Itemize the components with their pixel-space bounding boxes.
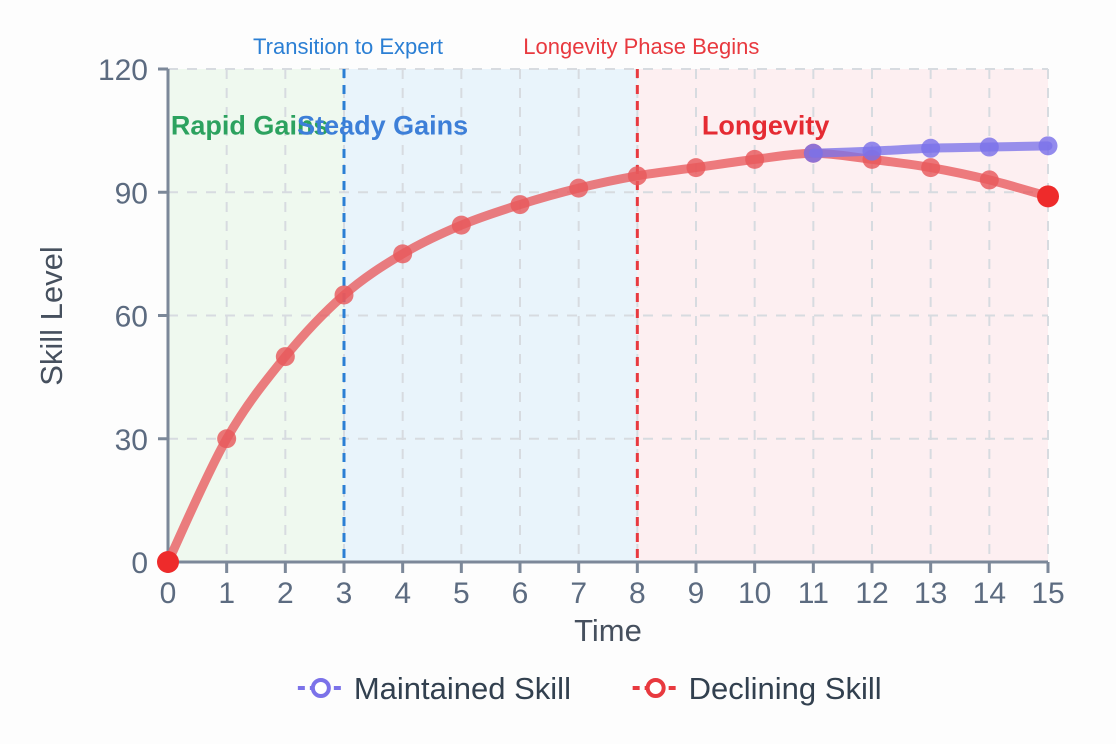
data-point-marker	[980, 170, 999, 189]
legend-marker-icon	[648, 680, 664, 696]
data-point-marker	[687, 158, 706, 177]
x-tick-label: 12	[855, 577, 888, 610]
x-tick-label: 3	[336, 577, 353, 610]
data-point-marker	[921, 139, 940, 158]
phase-divider-label: Transition to Expert	[253, 34, 443, 59]
x-tick-label: 8	[629, 577, 646, 610]
x-tick-label: 14	[973, 577, 1006, 610]
x-tick-label: 10	[738, 577, 771, 610]
divider-labels: Transition to ExpertLongevity Phase Begi…	[253, 34, 759, 59]
chart-legend[interactable]: Maintained SkillDeclining Skill	[298, 671, 882, 706]
phase-divider-label: Longevity Phase Begins	[523, 34, 759, 59]
x-tick-label: 0	[160, 577, 177, 610]
data-point-marker	[393, 244, 412, 263]
legend-item[interactable]: Maintained Skill	[298, 671, 571, 706]
data-point-marker	[980, 138, 999, 157]
x-tick-label: 11	[798, 577, 829, 610]
data-point-marker	[276, 347, 295, 366]
data-point-marker	[628, 166, 647, 185]
x-tick-label: 15	[1031, 577, 1064, 610]
x-tick-label: 7	[570, 577, 587, 610]
data-point-marker	[921, 158, 940, 177]
data-point-marker	[335, 285, 354, 304]
legend-item[interactable]: Declining Skill	[633, 671, 882, 706]
y-axis-title: Skill Level	[34, 246, 69, 386]
series-endpoint-marker	[157, 551, 179, 573]
y-tick-label: 90	[115, 177, 148, 210]
chart-canvas: 0123456789101112131415 0306090120 Transi…	[0, 0, 1116, 744]
y-tick-label: 30	[115, 424, 148, 457]
legend-label: Declining Skill	[689, 671, 882, 706]
legend-marker-icon	[313, 680, 329, 696]
data-point-marker	[452, 216, 471, 235]
x-tick-label: 9	[688, 577, 705, 610]
data-point-marker	[863, 142, 882, 161]
x-tick-labels: 0123456789101112131415	[160, 577, 1065, 610]
phase-annotation: Steady Gains	[297, 111, 468, 141]
skill-progression-chart: 0123456789101112131415 0306090120 Transi…	[0, 0, 1116, 744]
data-point-marker	[511, 195, 530, 214]
y-tick-label: 120	[98, 54, 148, 87]
x-tick-label: 2	[277, 577, 294, 610]
y-tick-labels: 0306090120	[98, 54, 148, 580]
data-point-marker	[1039, 136, 1058, 155]
x-tick-label: 1	[218, 577, 235, 610]
x-tick-label: 13	[914, 577, 947, 610]
series-endpoint-marker	[1037, 185, 1059, 207]
y-tick-label: 60	[115, 301, 148, 334]
data-point-marker	[745, 150, 764, 169]
y-tick-label: 0	[131, 547, 148, 580]
x-axis-title: Time	[574, 613, 642, 648]
x-tick-label: 5	[453, 577, 470, 610]
data-point-marker	[804, 144, 823, 163]
data-point-marker	[569, 179, 588, 198]
data-point-marker	[217, 429, 236, 448]
x-tick-label: 6	[512, 577, 529, 610]
legend-label: Maintained Skill	[354, 671, 571, 706]
phase-annotation: Longevity	[702, 111, 830, 141]
x-tick-label: 4	[394, 577, 411, 610]
